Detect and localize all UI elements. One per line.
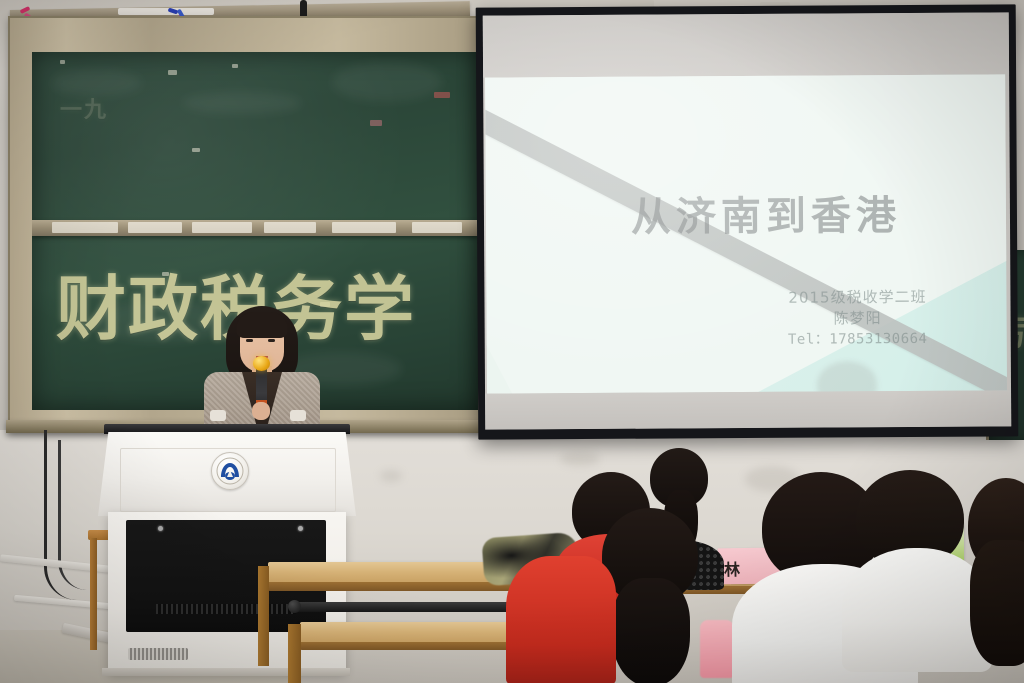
presenter-hand bbox=[252, 402, 270, 420]
student-ponytail bbox=[612, 578, 690, 683]
desk-leg bbox=[258, 566, 269, 666]
screen-bottom-band bbox=[485, 390, 1011, 429]
lectern-front-panel bbox=[98, 432, 356, 516]
desk-leg bbox=[288, 624, 301, 683]
projection-screen[interactable]: 从济南到香港 2015级税收学二班 陈梦阳 Tel：17853130664 bbox=[476, 4, 1019, 439]
student-ponytail bbox=[970, 540, 1024, 666]
screen-top-band bbox=[483, 12, 1009, 77]
student-white-tee-right bbox=[848, 470, 986, 670]
university-emblem-icon bbox=[211, 452, 249, 490]
slide-tel-line: Tel：17853130664 bbox=[743, 329, 973, 351]
presenter-eye-left bbox=[246, 339, 253, 342]
slide-class-line: 2015级税收学二班 bbox=[742, 287, 972, 309]
student-far-right bbox=[968, 478, 1024, 683]
presenter-cuff-right bbox=[290, 410, 306, 421]
panel-screw bbox=[298, 526, 303, 531]
wall-stain bbox=[380, 470, 402, 482]
panel-screw bbox=[158, 526, 163, 531]
slide-title: 从济南到香港 bbox=[486, 182, 1006, 243]
lectern-bottom-vent bbox=[128, 648, 188, 660]
presenter-eye-right bbox=[268, 339, 275, 342]
wall-stain bbox=[560, 452, 600, 466]
presenter-cuff-left bbox=[210, 410, 226, 421]
student-red-shirt-body bbox=[506, 556, 616, 683]
presentation-slide: 从济南到香港 2015级税收学二班 陈梦阳 Tel：17853130664 bbox=[485, 74, 1007, 393]
presenter-fringe bbox=[236, 312, 288, 338]
classroom-scene: 一九 财政税务学 厉 从济南到香港 2015级税收学 bbox=[0, 0, 1024, 683]
microphone-icon bbox=[253, 356, 270, 371]
rail-patch bbox=[118, 8, 214, 15]
slide-name-line: 陈梦阳 bbox=[743, 308, 973, 330]
desk-bar-knob bbox=[288, 600, 301, 613]
screen-surface: 从济南到香港 2015级税收学二班 陈梦阳 Tel：17853130664 bbox=[483, 12, 1012, 429]
student-shoulders bbox=[506, 556, 616, 683]
chair-leg bbox=[90, 538, 97, 650]
slide-subtitle-block: 2015级税收学二班 陈梦阳 Tel：17853130664 bbox=[742, 287, 972, 351]
slide-shadow-blob bbox=[817, 361, 877, 393]
blackboard-faint-text: 一九 bbox=[60, 92, 108, 124]
presenter bbox=[198, 306, 326, 438]
